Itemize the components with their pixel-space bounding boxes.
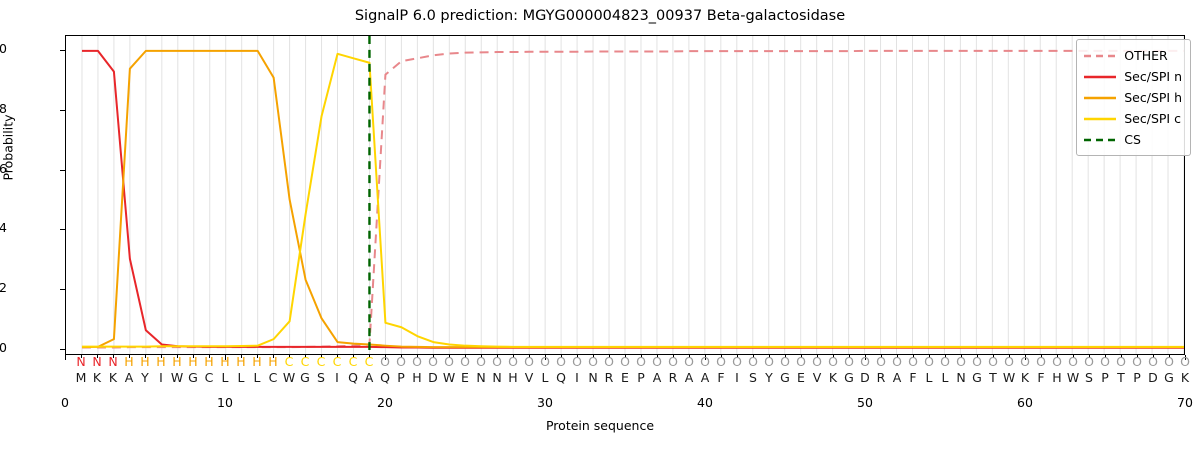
y-tick-label: 0.2 [0, 280, 7, 295]
y-tick-mark [60, 170, 65, 171]
legend-swatch-sec-spi-n [1083, 70, 1117, 84]
y-tick-mark [60, 110, 65, 111]
y-tick-mark [60, 50, 65, 51]
x-axis-label: Protein sequence [0, 418, 1200, 433]
legend-item[interactable]: OTHER [1083, 45, 1182, 66]
x-tick-label: 50 [835, 395, 895, 410]
legend-swatch-other [1083, 49, 1117, 63]
y-tick-mark [60, 349, 65, 350]
y-tick-label: 0.0 [0, 340, 7, 355]
x-tick-label: 40 [675, 395, 735, 410]
signalp-figure: SignalP 6.0 prediction: MGYG000004823_00… [0, 0, 1200, 450]
legend-swatch-sec-spi-c [1083, 112, 1117, 126]
y-axis-label: Probability [1, 88, 16, 208]
y-tick-mark [60, 289, 65, 290]
x-tick-label: 60 [995, 395, 1055, 410]
legend-label: Sec/SPI c [1124, 111, 1181, 126]
legend-label: Sec/SPI h [1124, 90, 1182, 105]
legend-item[interactable]: Sec/SPI n [1083, 66, 1182, 87]
plot-area [65, 35, 1185, 355]
x-tick-label: 0 [35, 395, 95, 410]
legend-swatch-cs [1083, 133, 1117, 147]
legend-item[interactable]: CS [1083, 129, 1182, 150]
region-annotation-row: NNNHHHHHHHHHHCCCCCCOOOOOOOOOOOOOOOOOOOOO… [65, 353, 1185, 370]
legend-label: Sec/SPI n [1124, 69, 1182, 84]
region-annotation: O [1174, 353, 1196, 370]
legend-label: OTHER [1124, 48, 1167, 63]
data-lines [66, 36, 1184, 354]
legend-item[interactable]: Sec/SPI h [1083, 87, 1182, 108]
legend-item[interactable]: Sec/SPI c [1083, 108, 1182, 129]
x-tick-label: 20 [355, 395, 415, 410]
legend-swatch-sec-spi-h [1083, 91, 1117, 105]
y-tick-label: 0.4 [0, 220, 7, 235]
x-tick-label: 70 [1155, 395, 1200, 410]
legend-label: CS [1124, 132, 1141, 147]
x-tick-label: 10 [195, 395, 255, 410]
chart-title: SignalP 6.0 prediction: MGYG000004823_00… [0, 8, 1200, 24]
protein-sequence-row: MKKAYIWGCLLLCWGSIQAQPHDWENNHVLQINREPARAA… [65, 369, 1185, 386]
sequence-residue: K [1174, 369, 1196, 386]
x-tick-label: 30 [515, 395, 575, 410]
y-tick-label: 1.0 [0, 41, 7, 56]
legend[interactable]: OTHERSec/SPI nSec/SPI hSec/SPI cCS [1076, 39, 1191, 156]
y-tick-mark [60, 229, 65, 230]
